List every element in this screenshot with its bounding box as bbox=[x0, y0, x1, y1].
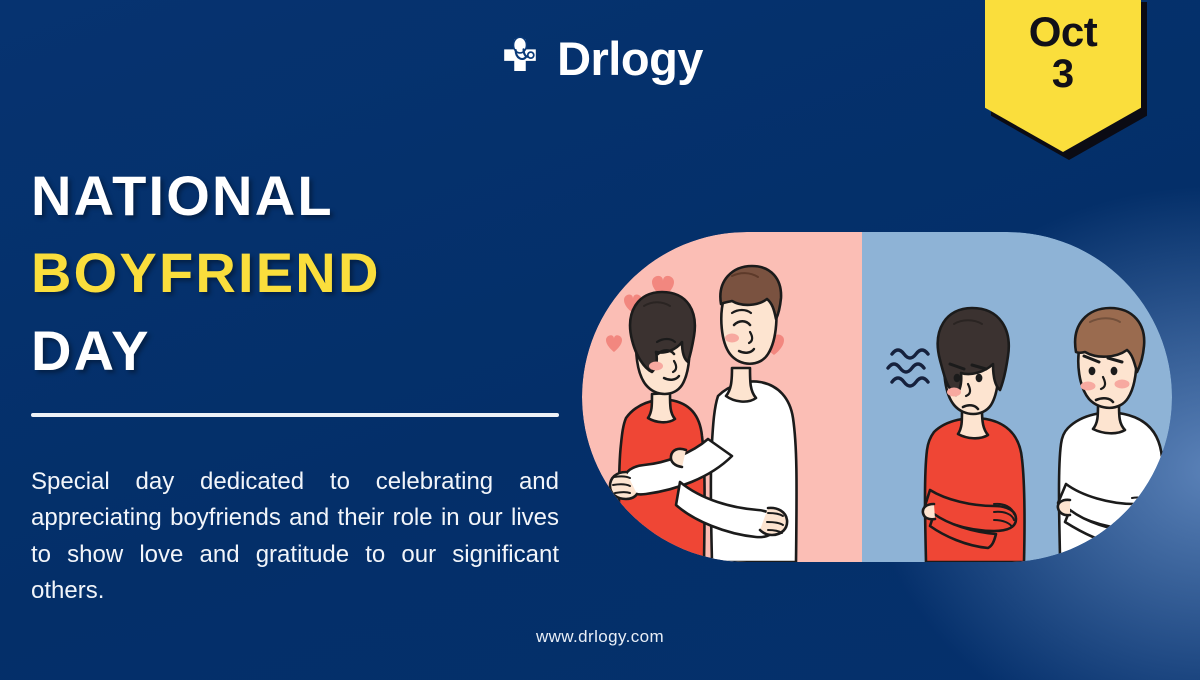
description-text: Special day dedicated to celebrating and… bbox=[31, 464, 559, 610]
title-line-1: NATIONAL bbox=[31, 157, 591, 234]
footer-website-url: www.drlogy.com bbox=[0, 627, 1200, 647]
date-badge-day: 3 bbox=[1052, 52, 1074, 96]
page-title: NATIONAL BOYFRIEND DAY bbox=[31, 157, 591, 389]
date-badge: Oct 3 bbox=[985, 0, 1141, 152]
title-line-3: DAY bbox=[31, 312, 591, 389]
medical-cross-stethoscope-icon bbox=[497, 35, 543, 81]
date-badge-month: Oct bbox=[1029, 10, 1098, 54]
illustration-panel bbox=[582, 232, 1172, 562]
brand-name: Drlogy bbox=[557, 35, 703, 82]
poster-canvas: Drlogy Oct 3 NATIONAL BOYFRIEND DAY Spec… bbox=[0, 0, 1200, 680]
title-line-2: BOYFRIEND bbox=[31, 234, 591, 311]
title-divider bbox=[31, 413, 559, 417]
